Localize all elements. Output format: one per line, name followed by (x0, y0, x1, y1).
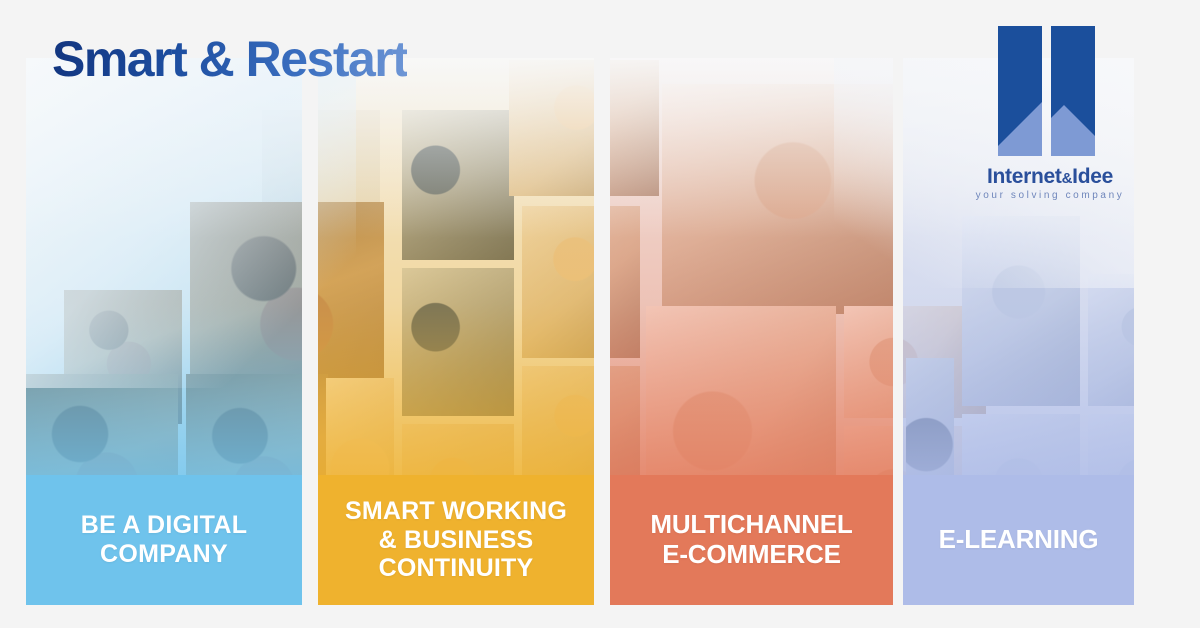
category-label-line: E-LEARNING (939, 525, 1099, 555)
logo: Internet&Idee your solving company (960, 26, 1140, 216)
category-label: MULTICHANNEL E-COMMERCE (650, 510, 852, 570)
logo-name-second: Idee (1072, 165, 1113, 188)
banner-root: Smart & Restart Internet&Idee your solvi… (0, 0, 1200, 628)
logo-name-main: Internet (987, 165, 1062, 188)
column-gutter (893, 58, 903, 605)
page-title: Smart & Restart (52, 30, 407, 88)
category-panel-multichannel-e-commerce[interactable]: MULTICHANNEL E-COMMERCE (610, 475, 893, 605)
collage-tile (522, 206, 640, 358)
collage-tile (662, 84, 900, 314)
logo-wordmark: Internet&Idee (960, 166, 1140, 187)
collage-tile (509, 60, 659, 196)
collage-tile (1088, 274, 1134, 406)
category-label-line: COMPANY (81, 540, 248, 569)
column-gutter (594, 58, 610, 605)
category-panel-smart-working-business-continuity[interactable]: SMART WORKING & BUSINESS CONTINUITY (318, 475, 594, 605)
category-label-line: BE A DIGITAL (81, 511, 248, 540)
category-label: SMART WORKING & BUSINESS CONTINUITY (345, 497, 567, 583)
category-label-line: MULTICHANNEL (650, 510, 852, 540)
logo-name-amp: & (1062, 170, 1073, 187)
category-panel-e-learning[interactable]: E-LEARNING (903, 475, 1134, 605)
collage-tile (402, 110, 514, 260)
category-label-line: E-COMMERCE (650, 540, 852, 570)
category-label-line: & BUSINESS (345, 526, 567, 555)
logo-mark-icon (998, 26, 1102, 156)
column-gutter (302, 58, 318, 605)
logo-tagline: your solving company (960, 190, 1140, 201)
category-label: BE A DIGITAL COMPANY (81, 511, 248, 569)
category-label-line: CONTINUITY (345, 554, 567, 583)
category-label: E-LEARNING (939, 525, 1099, 555)
collage-tile (402, 268, 514, 416)
collage-tile (962, 216, 1080, 406)
category-label-line: SMART WORKING (345, 497, 567, 526)
category-panel-be-a-digital-company[interactable]: BE A DIGITAL COMPANY (26, 475, 302, 605)
